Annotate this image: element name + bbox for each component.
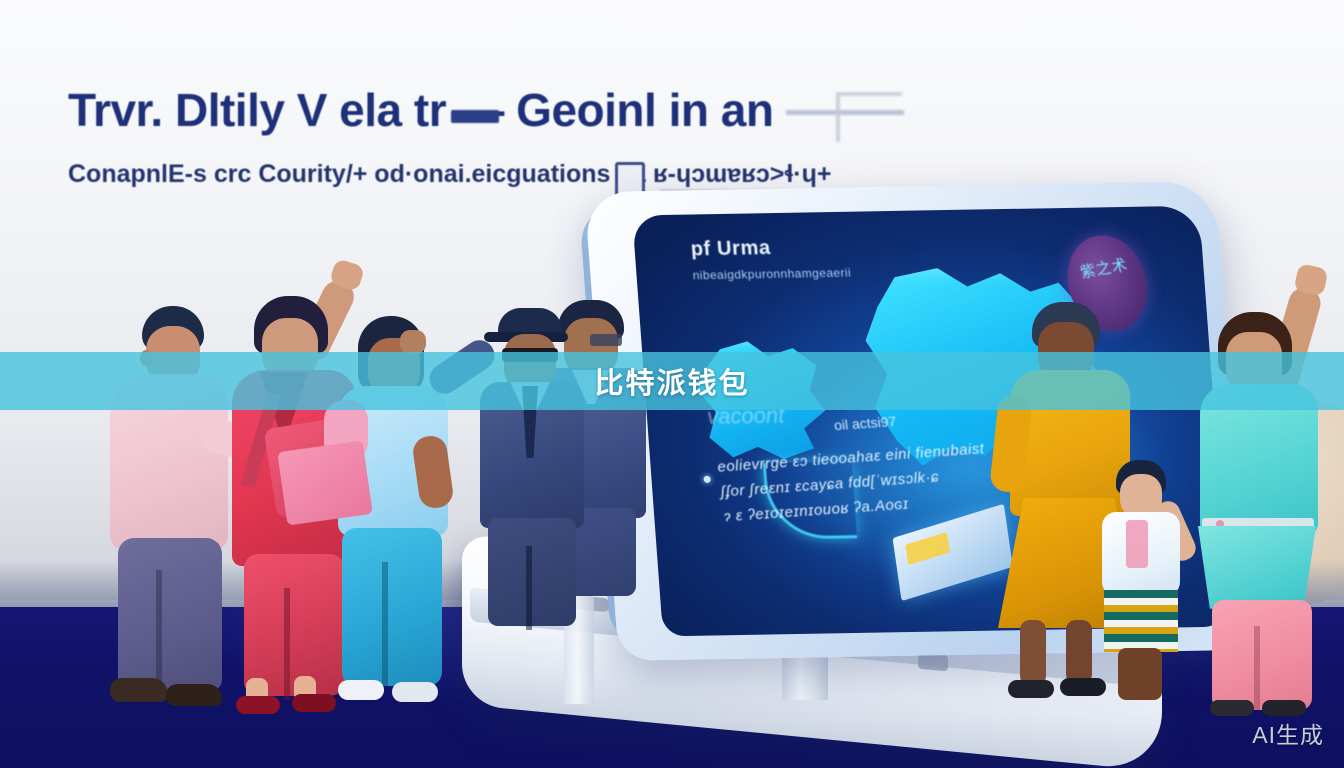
headline-dash-icon — [451, 110, 499, 123]
ai-watermark: AI生成 — [1252, 716, 1324, 750]
shoe-right — [392, 682, 438, 702]
leg-split — [284, 588, 290, 700]
shoe-left — [1210, 700, 1254, 716]
person-child — [1096, 460, 1188, 710]
shoe-left — [110, 678, 168, 702]
poster-canvas: Trvr. Dltily V ela tr — Geoinl in an Con… — [0, 0, 1344, 768]
leg-split — [382, 562, 388, 686]
legs — [118, 538, 222, 690]
banner-title: 比特派钱包 — [594, 360, 749, 402]
shoe-left — [236, 696, 280, 714]
leg-split — [156, 570, 162, 690]
tote-bag — [277, 440, 372, 525]
screen-title: pf Urma — [690, 233, 1022, 262]
headline-bracket-icon — [836, 92, 902, 142]
screen-bullet-icon — [703, 476, 711, 483]
screen-badge-label: 紫之术 — [1063, 251, 1144, 285]
shoe-left — [338, 680, 384, 700]
legs — [1118, 648, 1162, 700]
glasses-icon — [590, 334, 622, 346]
legs — [1212, 600, 1312, 710]
striped-skirt — [1104, 590, 1178, 652]
screen-subtitle: nibeaigdkpuronnhamgeaerii — [692, 263, 1023, 283]
jacket-pattern — [1126, 520, 1148, 568]
hand-raised — [400, 330, 426, 354]
leg-split — [526, 546, 532, 630]
leg-split — [1254, 626, 1260, 710]
legs — [342, 528, 442, 686]
leg-right — [1066, 620, 1092, 684]
banner-band: 比特派钱包 — [0, 352, 1344, 410]
legs — [488, 518, 576, 626]
shoe-left — [1008, 680, 1054, 698]
shoe-right — [1262, 700, 1306, 716]
leg-left — [1020, 620, 1046, 686]
screen-header: pf Urma nibeaigdkpuronnhamgeaerii — [690, 233, 1024, 283]
